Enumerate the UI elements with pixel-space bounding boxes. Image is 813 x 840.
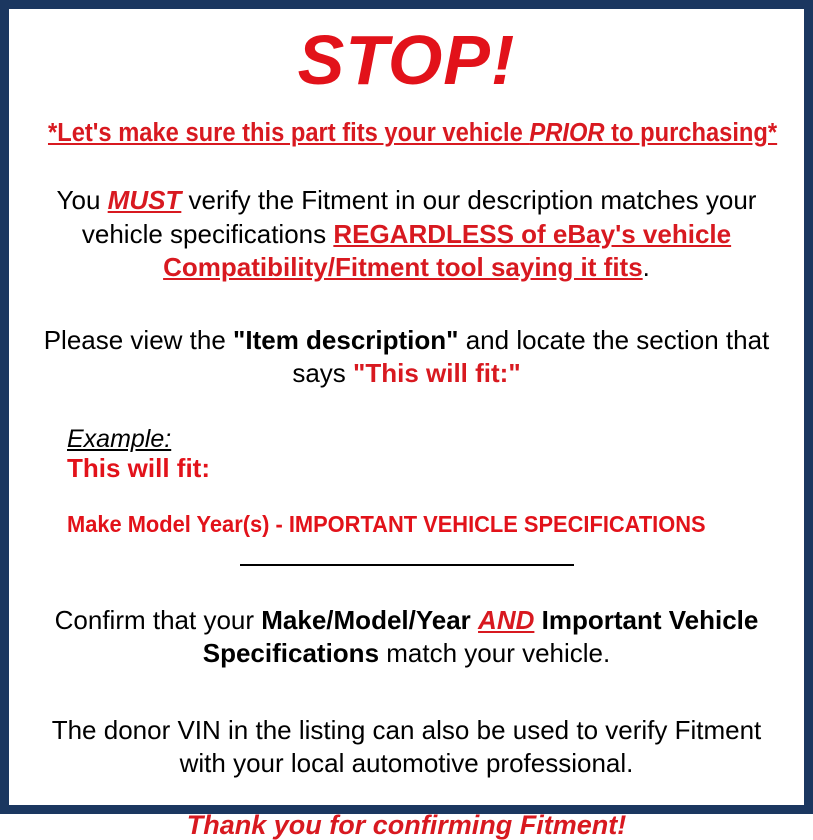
example-spec-line: Make Model Year(s) - IMPORTANT VEHICLE S… xyxy=(67,511,756,538)
divider xyxy=(21,564,792,578)
example-block: Example: This will fit: Make Model Year(… xyxy=(21,425,792,538)
confirm-text-3 xyxy=(534,605,541,635)
emphasis-this-will-fit: "This will fit:" xyxy=(353,358,521,388)
emphasis-and: AND xyxy=(478,605,534,635)
must-text-1: You xyxy=(57,185,108,215)
subheading-emphasis-prior: PRIOR xyxy=(529,119,604,147)
confirm-text-2 xyxy=(471,605,478,635)
thank-you-line: Thank you for confirming Fitment! xyxy=(21,811,792,840)
stop-heading: STOP! xyxy=(21,25,792,95)
fitment-subheading: *Let's make sure this part fits your veh… xyxy=(48,119,765,148)
example-fit-line: This will fit: xyxy=(67,454,792,484)
fitment-notice-card: STOP! *Let's make sure this part fits yo… xyxy=(0,0,813,814)
donor-vin-paragraph: The donor VIN in the listing can also be… xyxy=(21,714,792,781)
must-verify-paragraph: You MUST verify the Fitment in our descr… xyxy=(21,184,792,284)
subheading-text-after: to purchasing* xyxy=(605,119,778,147)
confirm-paragraph: Confirm that your Make/Model/Year AND Im… xyxy=(21,604,792,671)
emphasis-make-model-year: Make/Model/Year xyxy=(261,605,471,635)
item-description-paragraph: Please view the "Item description" and l… xyxy=(21,324,792,391)
please-text-1: Please view the xyxy=(44,325,233,355)
confirm-text-1: Confirm that your xyxy=(55,605,262,635)
divider-rule xyxy=(240,564,574,566)
must-text-3: . xyxy=(643,252,650,282)
example-label: Example: xyxy=(67,425,792,453)
emphasis-item-description: "Item description" xyxy=(233,325,458,355)
subheading-text-before: *Let's make sure this part fits your veh… xyxy=(48,119,529,147)
confirm-text-4: match your vehicle. xyxy=(379,638,610,668)
emphasis-must: MUST xyxy=(108,185,182,215)
